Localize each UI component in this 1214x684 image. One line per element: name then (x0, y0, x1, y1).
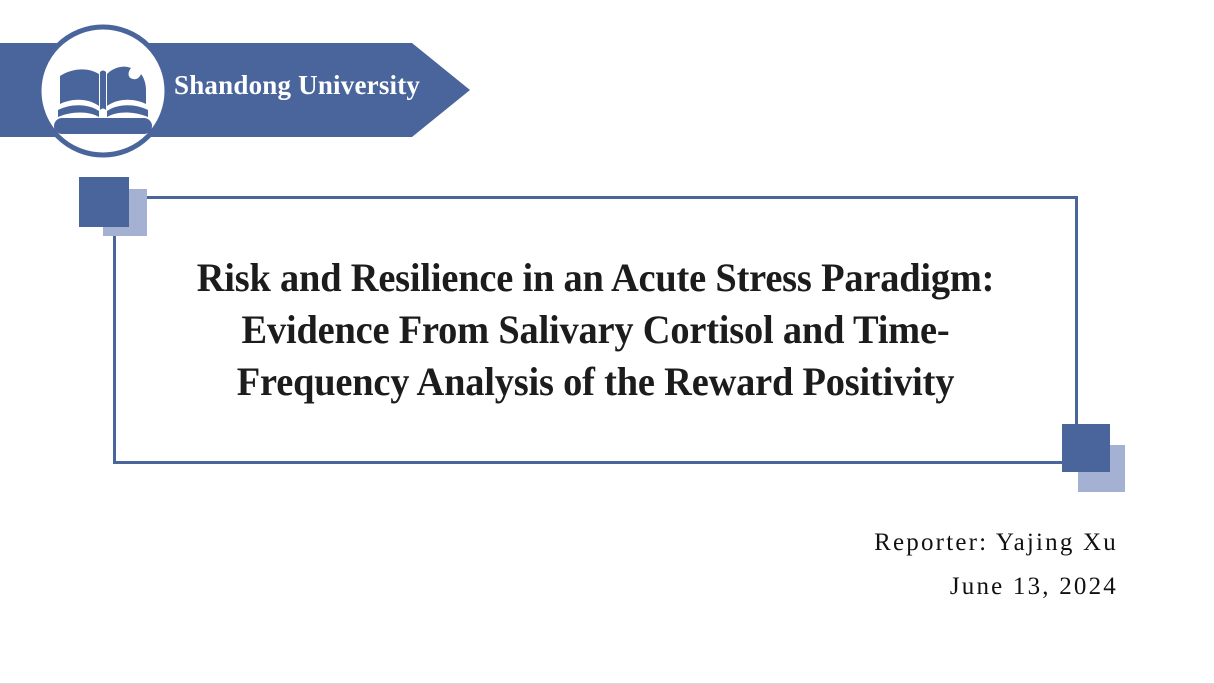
open-book-icon (36, 24, 170, 158)
presenter-meta: Reporter: Yajing Xu June 13, 2024 (874, 521, 1118, 609)
university-name-label: Shandong University (174, 72, 420, 99)
title-line-2: Evidence From Salivary Cortisol and Time… (152, 304, 1040, 356)
decor-square-bottom-right-dark (1062, 424, 1110, 472)
title-slide: Shandong University Risk and (0, 0, 1214, 684)
date-label: June 13, 2024 (874, 565, 1118, 609)
presentation-title: Risk and Resilience in an Acute Stress P… (152, 252, 1040, 408)
title-line-1: Risk and Resilience in an Acute Stress P… (152, 252, 1040, 304)
reporter-label: Reporter: Yajing Xu (874, 521, 1118, 565)
decor-square-top-left-dark (79, 177, 129, 227)
title-line-3: Frequency Analysis of the Reward Positiv… (152, 356, 1040, 408)
